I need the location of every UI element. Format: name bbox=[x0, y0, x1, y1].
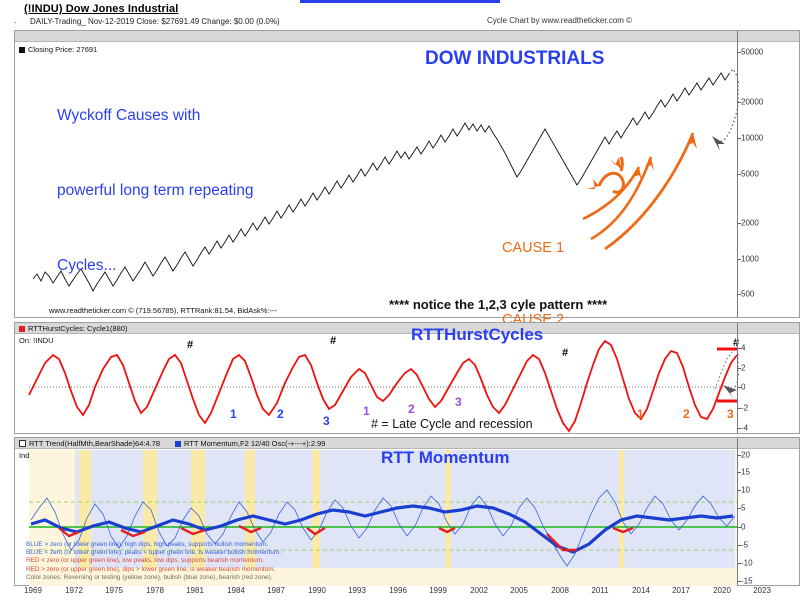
trend-legend[interactable]: RTT Trend(HalfMth,BearShade)64:4.78 bbox=[19, 438, 160, 449]
x-axis-label: 2011 bbox=[591, 586, 608, 595]
late-cycle-hash-marker: # bbox=[187, 339, 193, 351]
x-axis-label: 1975 bbox=[105, 586, 123, 595]
hurst-tick: 2 bbox=[741, 364, 745, 373]
x-axis-label: 2008 bbox=[551, 586, 569, 595]
momentum-tick: -15 bbox=[741, 577, 753, 586]
hurst-tick: 4 bbox=[741, 344, 745, 353]
cycle-number: 1 bbox=[363, 404, 370, 418]
window-scroll-indicator[interactable] bbox=[300, 0, 500, 3]
momentum-tick: 10 bbox=[741, 486, 750, 495]
hurst-axis-line bbox=[737, 323, 738, 433]
price-tick: 500 bbox=[741, 290, 754, 299]
late-cycle-hash-marker: # bbox=[562, 347, 568, 359]
momentum-legend[interactable]: RTT Momentum,F2 12/40 Osc(-+---+):2.99 bbox=[175, 438, 325, 449]
hurst-legend-label: RTTHurstCycles: Cycle1(880) bbox=[28, 324, 127, 333]
momentum-note: RED > zero (or upper green line), dips >… bbox=[26, 566, 281, 574]
x-axis-label: 1996 bbox=[389, 586, 407, 595]
notice-pattern-text: **** notice the 1,2,3 cyle pattern **** bbox=[389, 297, 607, 312]
cycle-number: 3 bbox=[323, 414, 330, 428]
hurst-legend[interactable]: RTTHurstCycles: Cycle1(880) bbox=[19, 323, 127, 334]
note-line-1: Wyckoff Causes with bbox=[57, 103, 253, 128]
momentum-legend-label: RTT Momentum,F2 12/40 Osc(-+---+):2.99 bbox=[184, 439, 325, 448]
hurst-chart-title: RTTHurstCycles bbox=[411, 325, 543, 345]
price-tick: 20000 bbox=[741, 98, 763, 107]
cycle-number: 3 bbox=[455, 395, 462, 409]
cycle-chart-app: - (!INDU) Dow Jones Industrial DAILY-Tra… bbox=[0, 0, 800, 602]
hurst-tick: -2 bbox=[741, 404, 748, 413]
price-panel-header bbox=[15, 31, 799, 42]
x-axis-label: 1990 bbox=[308, 586, 326, 595]
hurst-panel: RTTHurstCycles: Cycle1(880) On: !INDU RT… bbox=[14, 322, 800, 434]
x-axis-label: 2017 bbox=[672, 586, 690, 595]
momentum-tick: -5 bbox=[741, 541, 748, 550]
x-axis-label: 2005 bbox=[510, 586, 528, 595]
momentum-note: RED < zero (or upper green line), low pe… bbox=[26, 557, 281, 565]
x-axis-label: 2023 bbox=[753, 586, 771, 595]
momentum-tick: 15 bbox=[741, 468, 750, 477]
x-axis-label: 1981 bbox=[186, 586, 204, 595]
cause-label-1: CAUSE 1 bbox=[502, 236, 564, 260]
cycle-number: 2 bbox=[277, 407, 284, 421]
x-axis-label: 1999 bbox=[429, 586, 447, 595]
x-axis: 1969 1972 1975 1978 1981 1984 1987 1990 … bbox=[0, 586, 800, 602]
momentum-tick: 0 bbox=[741, 523, 745, 532]
quote-summary: DAILY-Trading_ Nov-12-2019 Close: $27691… bbox=[30, 17, 280, 26]
momentum-note: BLUE < zero (or lower green line), peaks… bbox=[26, 549, 281, 557]
price-tick: 5000 bbox=[741, 170, 759, 179]
note-line-3: Cycles... bbox=[57, 253, 253, 278]
header-dash: - bbox=[14, 18, 17, 27]
price-panel: Closing Price: 27691 Wyckoff Causes with… bbox=[14, 30, 800, 318]
note-line-2: powerful long term repeating bbox=[57, 178, 253, 203]
momentum-tick: 5 bbox=[741, 504, 745, 513]
x-axis-label: 1969 bbox=[24, 586, 42, 595]
chart-credit: Cycle Chart by www.readtheticker.com © bbox=[487, 16, 632, 25]
x-axis-label: 1978 bbox=[146, 586, 164, 595]
cycle-number: 2 bbox=[408, 402, 415, 416]
hurst-tick: -4 bbox=[741, 424, 748, 433]
price-tick: 10000 bbox=[741, 134, 763, 143]
x-axis-label: 1993 bbox=[348, 586, 366, 595]
x-axis-label: 1972 bbox=[65, 586, 83, 595]
price-tick: 1000 bbox=[741, 255, 759, 264]
x-axis-label: 1984 bbox=[227, 586, 245, 595]
cycle-number: 3 bbox=[727, 407, 734, 421]
hurst-panel-header bbox=[15, 323, 799, 334]
x-axis-label: 2002 bbox=[470, 586, 488, 595]
momentum-y-axis: 20 15 10 5 0 -5 -10 -15 bbox=[737, 438, 799, 585]
hurst-hash-note: # = Late Cycle and recession bbox=[371, 417, 533, 431]
dow-industrials-title: DOW INDUSTRIALS bbox=[425, 48, 604, 70]
trend-color-swatch bbox=[19, 440, 26, 447]
late-cycle-hash-marker: # bbox=[330, 335, 336, 347]
momentum-note: BLUE > zero (or lower green line), high … bbox=[26, 541, 281, 549]
hurst-color-swatch bbox=[19, 326, 25, 332]
momentum-chart-title: RTT Momentum bbox=[381, 448, 509, 468]
trend-legend-label: RTT Trend(HalfMth,BearShade)64:4.78 bbox=[29, 439, 160, 448]
price-tick: 2000 bbox=[741, 219, 759, 228]
x-axis-label: 2014 bbox=[632, 586, 650, 595]
cycle-number: 1 bbox=[637, 407, 644, 421]
page-title: (!INDU) Dow Jones Industrial bbox=[24, 3, 178, 15]
cycle-number: 1 bbox=[230, 407, 237, 421]
momentum-tick: -10 bbox=[741, 559, 753, 568]
x-axis-label: 2020 bbox=[713, 586, 731, 595]
hurst-y-axis: 4 2 0 -2 -4 bbox=[737, 323, 799, 433]
price-tick: 50000 bbox=[741, 48, 763, 57]
cause-arrows bbox=[575, 91, 755, 251]
cycle-number: 2 bbox=[683, 407, 690, 421]
momentum-notes: BLUE > zero (or lower green line), high … bbox=[26, 541, 281, 582]
x-axis-label: 1987 bbox=[267, 586, 285, 595]
momentum-tick: 20 bbox=[741, 451, 750, 460]
momentum-note: Color zones: Reversing or testing (yello… bbox=[26, 574, 281, 582]
price-panel-footer: www.readtheticker.com © (719.56785), RTT… bbox=[49, 305, 277, 316]
hurst-tick: 0 bbox=[741, 383, 745, 392]
price-y-axis: 50000 20000 10000 5000 2000 1000 500 bbox=[737, 31, 799, 317]
momentum-color-swatch bbox=[175, 441, 181, 447]
